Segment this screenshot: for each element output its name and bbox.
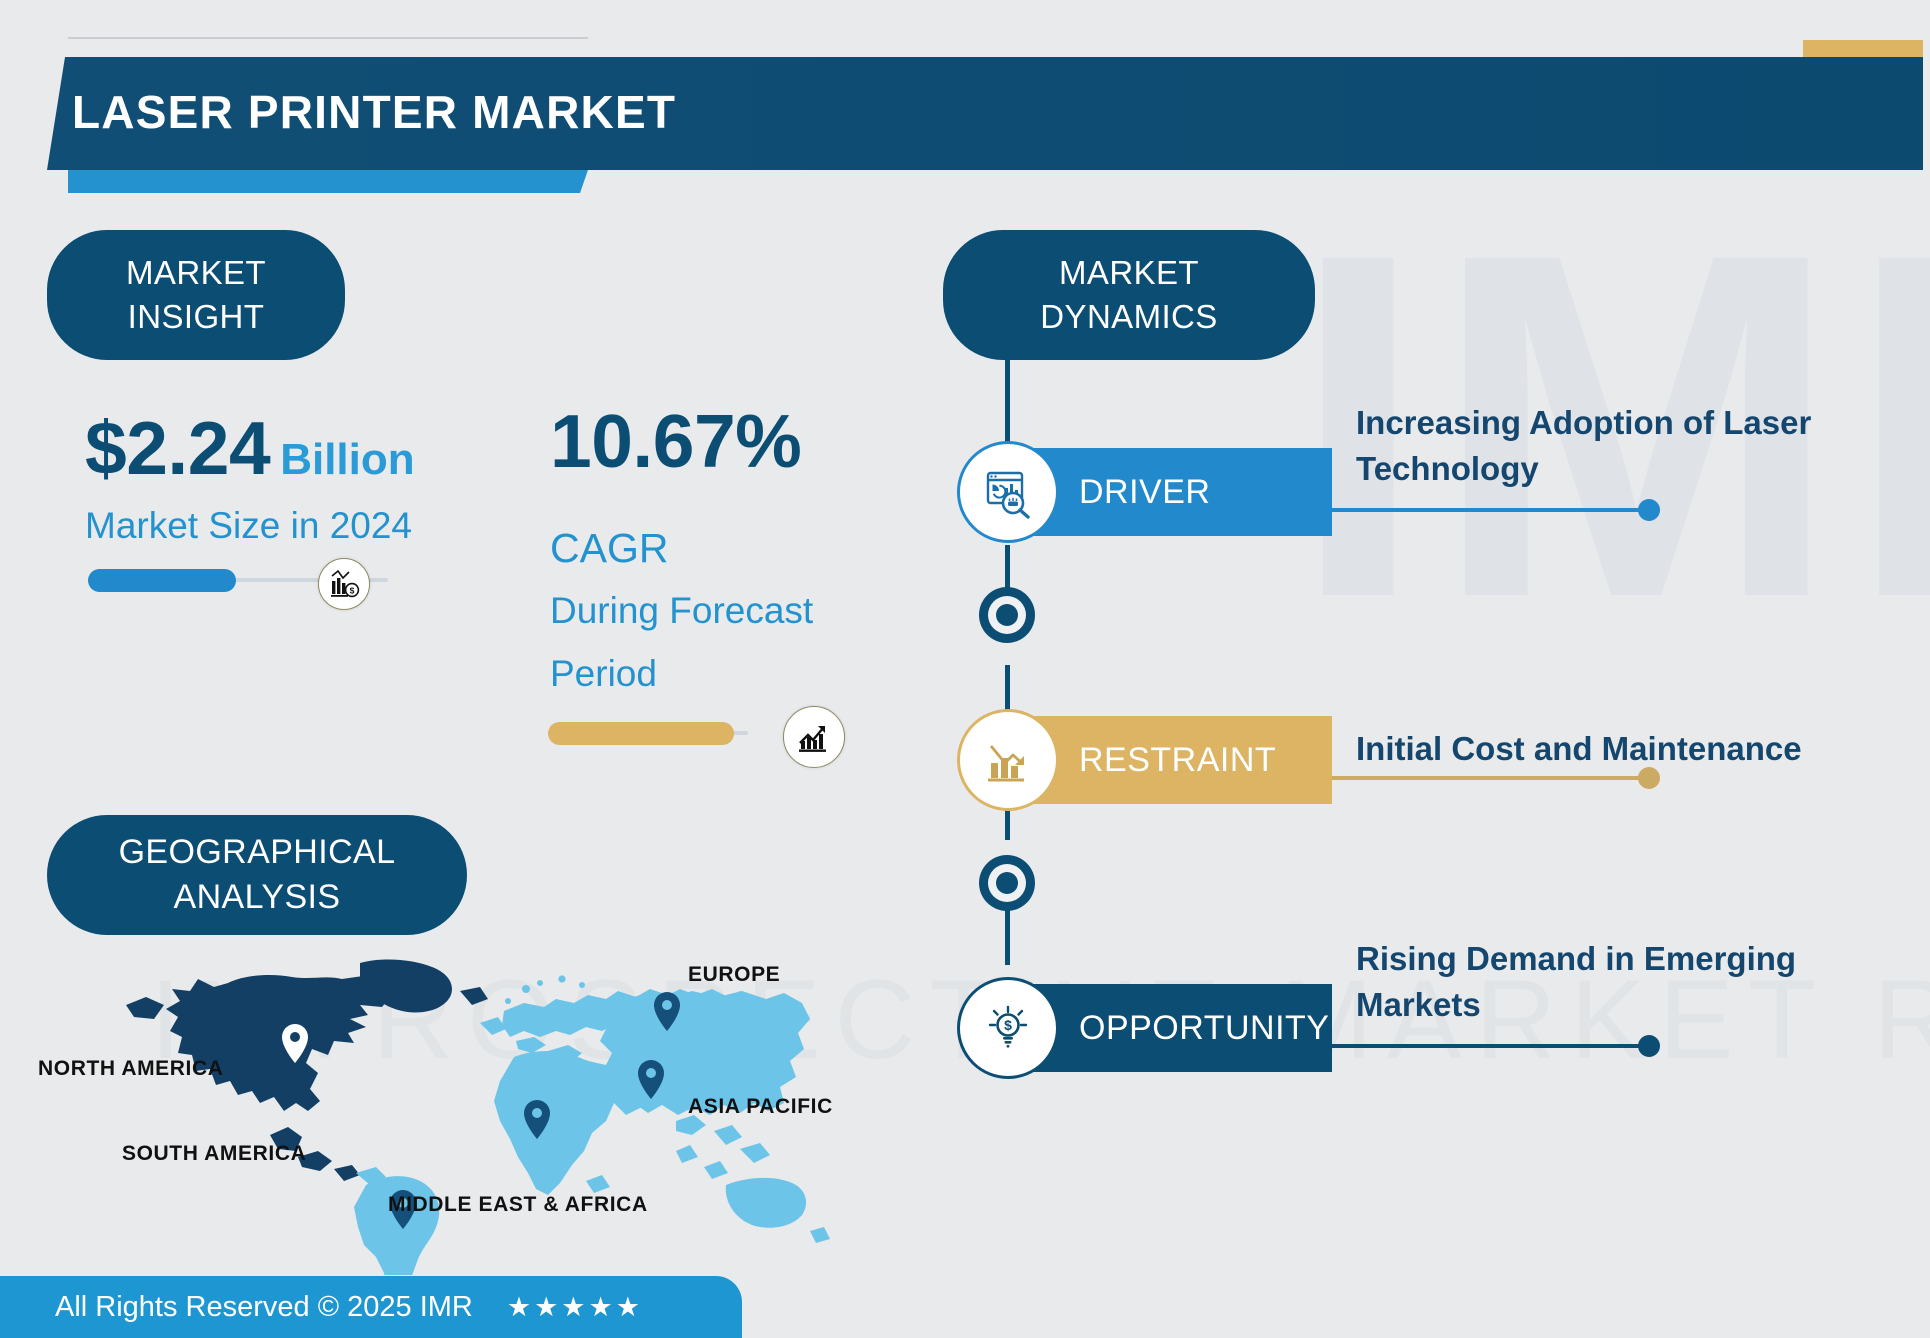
market-dynamics-pill: MARKETDYNAMICS [943, 230, 1315, 360]
market-size-bar-fill [88, 569, 236, 592]
map-label-europe: EUROPE [688, 963, 780, 987]
market-size-unit: Billion [280, 435, 414, 484]
opportunity-description: Rising Demand in Emerging Markets [1356, 936, 1886, 1027]
geographical-analysis-pill-label: GEOGRAPHICALANALYSIS [119, 830, 396, 920]
market-size-value-group: $2.24Billion [85, 405, 415, 491]
opportunity-lead-dot [1638, 1035, 1660, 1057]
map-label-south-america: SOUTH AMERICA [122, 1142, 306, 1166]
map-region-middle-east-africa [494, 1051, 642, 1195]
restraint-label: RESTRAINT [1079, 716, 1276, 804]
spine-node-icon [979, 855, 1035, 911]
svg-text:$: $ [350, 585, 355, 595]
market-size-caption: Market Size in 2024 [85, 505, 412, 547]
restraint-description: Initial Cost and Maintenance [1356, 726, 1886, 772]
lightbulb-dollar-icon: $ [957, 977, 1059, 1079]
copyright-text: All Rights Reserved © 2025 IMR [55, 1291, 473, 1324]
page-title: LASER PRINTER MARKET [72, 85, 676, 139]
driver-lead-line [1332, 508, 1652, 512]
declining-chart-icon [957, 709, 1059, 811]
cagr-value: 10.67% [550, 398, 801, 484]
header-blue-accent [68, 170, 588, 193]
opportunity-label: OPPORTUNITY [1079, 984, 1329, 1072]
growth-arrow-icon [783, 706, 845, 768]
cagr-bar-fill [548, 722, 734, 745]
driver-label: DRIVER [1079, 448, 1210, 536]
dynamics-row-driver[interactable]: DRIVER [957, 448, 1332, 536]
svg-text:$: $ [1004, 1017, 1012, 1033]
map-label-middle-east-africa: MIDDLE EAST & AFRICA [388, 1193, 648, 1217]
restraint-lead-line [1332, 776, 1652, 780]
driver-description: Increasing Adoption of Laser Technology [1356, 400, 1886, 491]
spine-node-icon [979, 587, 1035, 643]
geographical-analysis-pill: GEOGRAPHICALANALYSIS [47, 815, 467, 935]
header-hairline [68, 37, 588, 39]
map-label-north-america: NORTH AMERICA [38, 1057, 224, 1081]
footer-bar: All Rights Reserved © 2025 IMR ★★★★★ [0, 1276, 742, 1338]
map-label-asia-pacific: ASIA PACIFIC [688, 1095, 833, 1119]
star-rating-icon: ★★★★★ [507, 1292, 643, 1323]
dynamics-row-restraint[interactable]: RESTRAINT [957, 716, 1332, 804]
market-insight-pill-label: MARKETINSIGHT [126, 251, 266, 338]
market-insight-pill: MARKETINSIGHT [47, 230, 345, 360]
cagr-caption-line1: During Forecast [550, 590, 813, 632]
cagr-caption-line2: Period [550, 653, 657, 695]
chart-magnifier-icon [957, 441, 1059, 543]
cagr-label: CAGR [550, 525, 668, 572]
market-size-value: $2.24 [85, 406, 270, 490]
driver-lead-dot [1638, 499, 1660, 521]
bar-chart-dollar-icon: $ [318, 558, 370, 610]
map-region-south-america [354, 1167, 439, 1275]
opportunity-lead-line [1332, 1044, 1652, 1048]
dynamics-row-opportunity[interactable]: $ OPPORTUNITY [957, 984, 1332, 1072]
market-dynamics-pill-label: MARKETDYNAMICS [1040, 251, 1217, 338]
